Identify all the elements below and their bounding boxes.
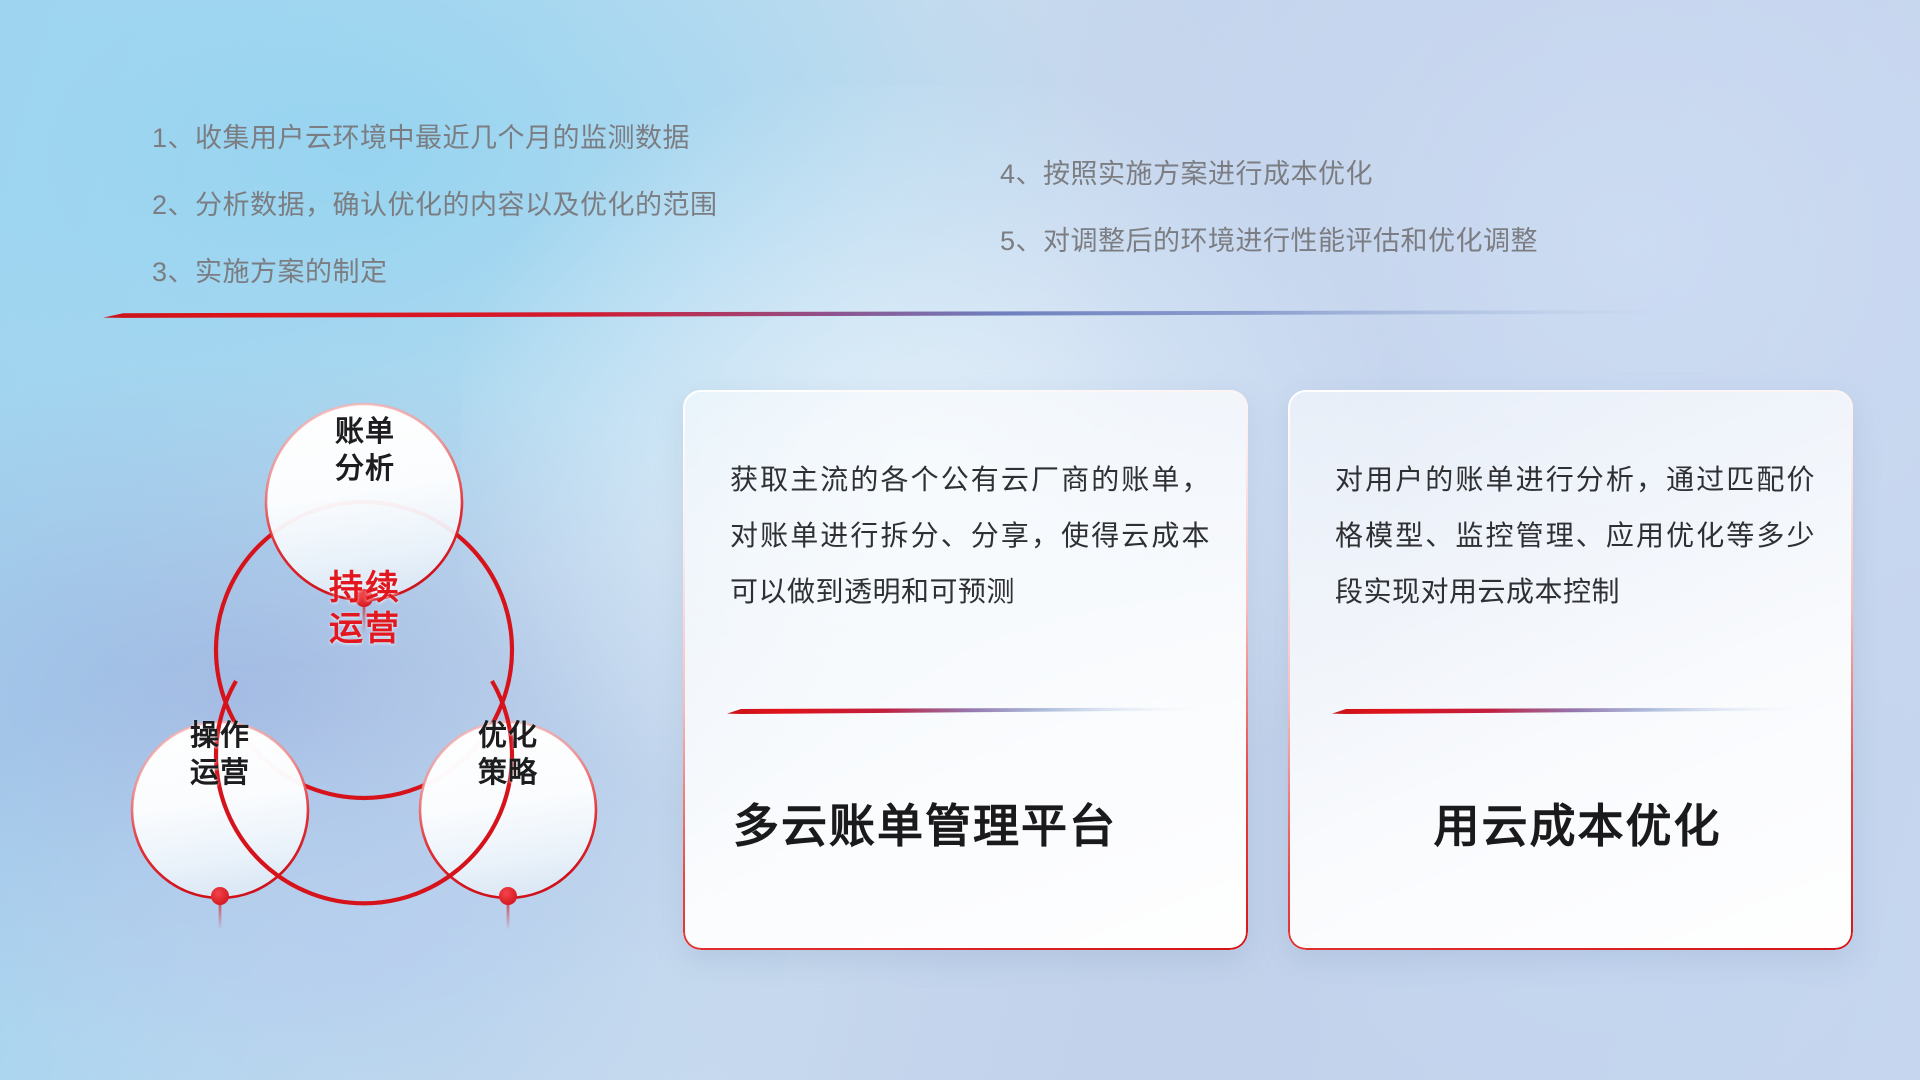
card-divider-rule bbox=[1332, 705, 1802, 715]
card-title: 用云成本优化 bbox=[1332, 790, 1823, 856]
step-item-1: 1、收集用户云环境中最近几个月的监测数据 bbox=[152, 116, 718, 155]
diagram-node-bottom-left bbox=[211, 887, 229, 930]
slide-stage: 1、收集用户云环境中最近几个月的监测数据 2、分析数据，确认优化的内容以及优化的… bbox=[0, 0, 1920, 1080]
step-item-3: 3、实施方案的制定 bbox=[152, 250, 718, 289]
diagram-circle-bottom-right bbox=[420, 722, 596, 898]
diagram-node-bottom-right bbox=[499, 887, 517, 930]
card-body-text: 获取主流的各个公有云厂商的账单，对账单进行拆分、分享，使得云成本可以做到透明和可… bbox=[730, 452, 1210, 620]
step-item-4: 4、按照实施方案进行成本优化 bbox=[1000, 152, 1538, 191]
diagram-circle-bottom-left bbox=[132, 722, 308, 898]
steps-left-column: 1、收集用户云环境中最近几个月的监测数据 2、分析数据，确认优化的内容以及优化的… bbox=[152, 116, 718, 289]
steps-right-column: 4、按照实施方案进行成本优化 5、对调整后的环境进行性能评估和优化调整 bbox=[1000, 152, 1538, 258]
card-divider-rule bbox=[727, 705, 1197, 715]
feature-card-multicloud-billing[interactable]: 获取主流的各个公有云厂商的账单，对账单进行拆分、分享，使得云成本可以做到透明和可… bbox=[683, 390, 1248, 950]
feature-card-cloud-cost-optimization[interactable]: 对用户的账单进行分析，通过匹配价格模型、监控管理、应用优化等多少段实现对用云成本… bbox=[1288, 390, 1853, 950]
continuous-operation-diagram bbox=[100, 340, 640, 960]
section-divider bbox=[103, 305, 1703, 319]
diagram-node-top bbox=[355, 589, 373, 634]
card-title: 多云账单管理平台 bbox=[727, 790, 1218, 856]
step-item-2: 2、分析数据，确认优化的内容以及优化的范围 bbox=[152, 183, 718, 222]
card-body-text: 对用户的账单进行分析，通过匹配价格模型、监控管理、应用优化等多少段实现对用云成本… bbox=[1335, 452, 1815, 620]
step-item-5: 5、对调整后的环境进行性能评估和优化调整 bbox=[1000, 219, 1538, 258]
